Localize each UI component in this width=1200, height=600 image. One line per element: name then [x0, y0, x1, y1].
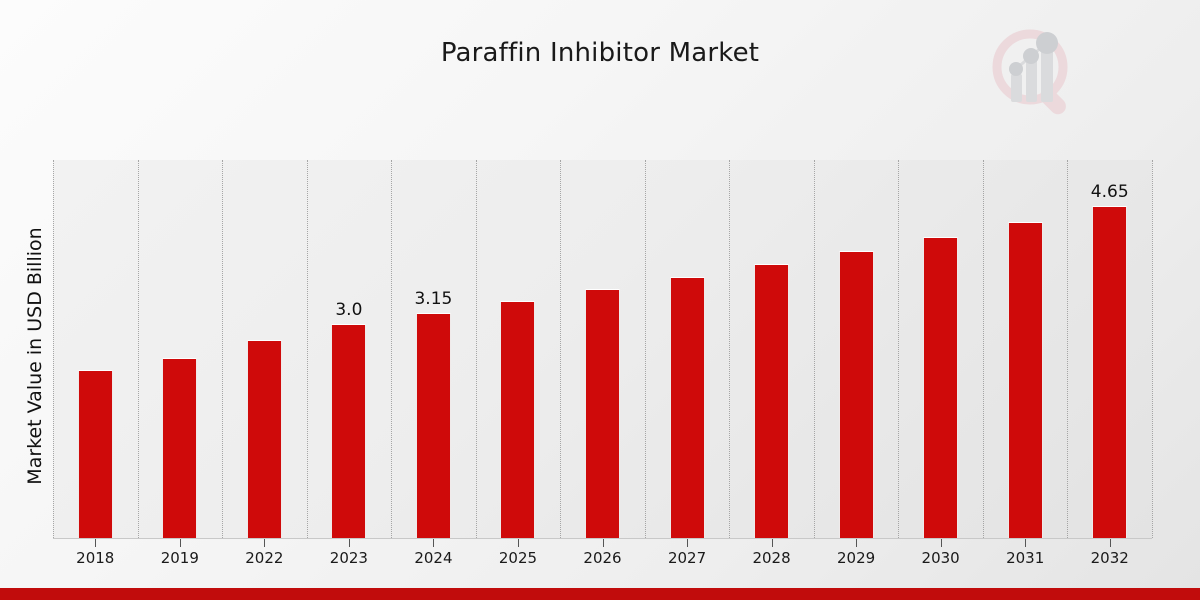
bar — [331, 324, 366, 538]
gridline — [983, 160, 984, 538]
bar — [162, 358, 197, 538]
bar — [247, 340, 282, 538]
bar — [78, 370, 113, 538]
x-axis-tick — [433, 539, 434, 547]
x-axis-tick — [349, 539, 350, 547]
x-axis-tick-label: 2023 — [314, 549, 384, 567]
gridline — [814, 160, 815, 538]
x-axis-tick — [95, 539, 96, 547]
x-axis-tick-label: 2031 — [990, 549, 1060, 567]
x-axis-tick — [941, 539, 942, 547]
x-axis-tick — [772, 539, 773, 547]
x-axis-tick-label: 2029 — [821, 549, 891, 567]
gridline — [138, 160, 139, 538]
bar — [500, 301, 535, 538]
x-axis-tick-label: 2026 — [568, 549, 638, 567]
bar — [1008, 222, 1043, 538]
x-axis-tick-label: 2032 — [1075, 549, 1145, 567]
bar — [923, 237, 958, 538]
bar — [416, 313, 451, 538]
x-axis-tick-label: 2028 — [737, 549, 807, 567]
gridline — [1067, 160, 1068, 538]
x-axis-tick — [687, 539, 688, 547]
x-axis-tick-label: 2027 — [652, 549, 722, 567]
x-axis-tick-label: 2018 — [60, 549, 130, 567]
gridline — [53, 160, 54, 538]
footer-accent-band — [0, 588, 1200, 600]
gridline — [645, 160, 646, 538]
bar — [1092, 206, 1127, 538]
gridline — [391, 160, 392, 538]
plot-area: 3.03.154.65 — [53, 160, 1152, 538]
x-axis-tick-label: 2019 — [145, 549, 215, 567]
bar — [839, 251, 874, 538]
x-axis-tick-label: 2022 — [229, 549, 299, 567]
bar-value-label: 3.15 — [398, 289, 468, 309]
x-axis-tick — [264, 539, 265, 547]
y-axis-label: Market Value in USD Billion — [24, 76, 46, 600]
gridline — [476, 160, 477, 538]
x-axis-tick — [1110, 539, 1111, 547]
bar — [670, 277, 705, 538]
gridline — [898, 160, 899, 538]
gridline — [729, 160, 730, 538]
x-axis-tick — [1025, 539, 1026, 547]
gridline — [560, 160, 561, 538]
x-axis-tick — [518, 539, 519, 547]
x-axis-tick-label: 2024 — [398, 549, 468, 567]
x-axis-tick — [856, 539, 857, 547]
x-axis-tick — [180, 539, 181, 547]
market-research-magnifier-logo — [985, 22, 1085, 122]
bar — [585, 289, 620, 538]
bar — [754, 264, 789, 538]
gridline — [1152, 160, 1153, 538]
bar-value-label: 4.65 — [1075, 182, 1145, 202]
gridline — [222, 160, 223, 538]
x-axis-tick — [603, 539, 604, 547]
x-axis-tick-label: 2030 — [906, 549, 976, 567]
chart-figure: Paraffin Inhibitor Market Market Value i… — [0, 0, 1200, 600]
x-axis-tick-label: 2025 — [483, 549, 553, 567]
gridline — [307, 160, 308, 538]
bar-value-label: 3.0 — [314, 300, 384, 320]
